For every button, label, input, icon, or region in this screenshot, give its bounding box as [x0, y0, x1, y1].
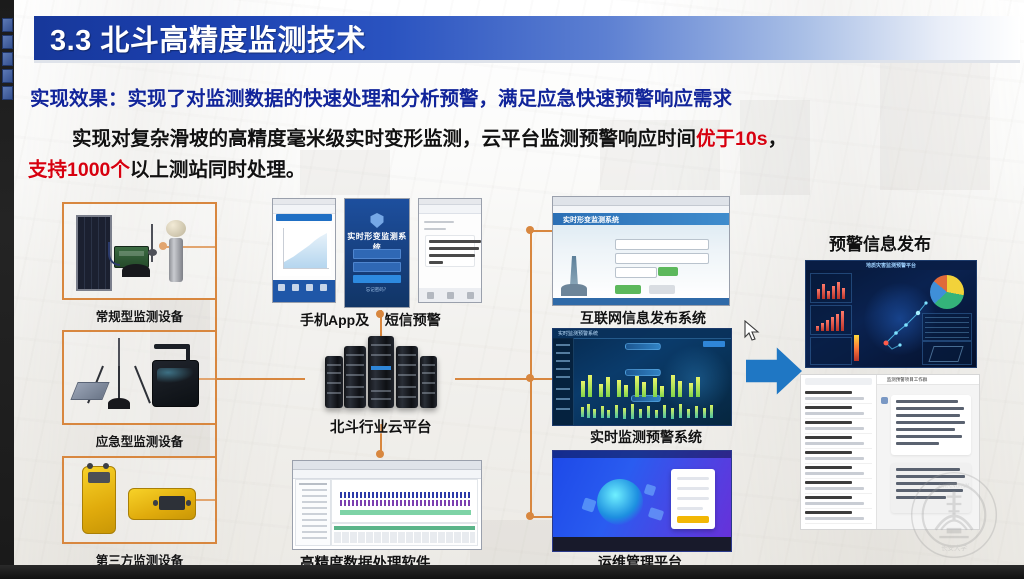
ops-chip-icon [644, 484, 657, 497]
sms-text-line [429, 261, 443, 264]
server-rack-center [368, 336, 394, 408]
publish-caption: 预警信息发布 [829, 230, 931, 255]
ops-footer [553, 537, 731, 551]
login-username-field[interactable] [615, 239, 709, 250]
chart-axis-y [283, 228, 284, 269]
sms-meta-line2 [424, 228, 446, 230]
dashboard-sidebar[interactable] [553, 338, 574, 425]
sms-text-line [429, 247, 479, 250]
software-window[interactable] [292, 460, 482, 550]
warn-mini-chart [815, 311, 847, 331]
list-item[interactable] [805, 449, 872, 464]
login-reset-button[interactable] [649, 285, 675, 294]
software-plot-panel [331, 479, 478, 523]
ops-chip-icon [648, 507, 664, 521]
cloud-platform-servers[interactable] [325, 336, 437, 408]
receiver-screen [88, 472, 110, 483]
chat-thread-header: 监测预警项目工作群 [877, 375, 979, 385]
datalogger-box-icon [152, 360, 199, 407]
receiver-cap2 [103, 463, 109, 469]
dashboard-bar-chart-top [579, 375, 709, 397]
warn-panel-label [814, 275, 815, 280]
dashboard-bar-chart-bottom [579, 403, 717, 421]
browser-tabbar[interactable] [553, 197, 729, 206]
chat-conversation-list[interactable] [801, 375, 877, 529]
dashboard-title: 实时监测预警系统 [558, 330, 598, 337]
yellow-receiver-lying-icon [128, 488, 196, 520]
ops-card-row [677, 477, 709, 480]
page-title: 3.3 北斗高精度监测技术 [50, 17, 366, 59]
sms-text-line [429, 240, 481, 243]
phone-password-field[interactable] [353, 262, 401, 272]
login-captcha-field[interactable] [615, 267, 657, 278]
server-rack [420, 356, 437, 408]
sms-meta-line [424, 221, 454, 223]
warn-dashboard-header: 地质灾害监测预警平台 [806, 261, 976, 270]
antenna-mast-icon [151, 224, 153, 262]
connector-dot-sys1 [526, 226, 534, 234]
body-highlight-10s: 优于10s [696, 128, 768, 150]
list-item[interactable] [805, 404, 872, 419]
system-footer [553, 298, 729, 305]
phone-app-chart[interactable] [272, 198, 336, 303]
chart-area-curve [283, 230, 327, 268]
yellow-receiver-upright-icon [82, 466, 116, 534]
warn-table-panel [922, 313, 972, 341]
gnss-antenna-ball-icon [166, 220, 186, 237]
login-submit-button[interactable] [615, 285, 641, 294]
warn-dashboard-title: 地质灾害监测预警平台 [866, 262, 916, 269]
slide-header: 3.3 北斗高精度监测技术 [14, 8, 1024, 68]
slide-root: 3.3 北斗高精度监测技术 实现效果：实现了对监测数据的快速处理和分析预警，满足… [0, 0, 1024, 579]
phone-search-row[interactable] [276, 214, 332, 221]
server-rack [344, 346, 366, 408]
system-window-internet-publish[interactable]: 实时形变监测系统 [552, 196, 730, 306]
monitor-cylinder-icon [169, 238, 183, 282]
sms-text-line [429, 254, 475, 257]
receiver-button-right [186, 500, 191, 506]
system-caption-realtime-warning: 实时监测预警系统 [590, 427, 702, 447]
phone-login-screen[interactable]: 实时形变监测系统 忘记密码？ [344, 198, 410, 308]
bottom-band [0, 565, 1024, 579]
body-highlight-1000: 支持1000个 [28, 159, 130, 181]
ops-chip-icon [581, 497, 596, 512]
solar-panel-icon [76, 215, 112, 291]
connector-dot-sys2 [526, 374, 534, 382]
warn-legend-gradient [854, 335, 859, 361]
connector-cloud-to-right [455, 378, 530, 380]
body-line2-tail: 以上测站同时处理。 [130, 159, 306, 181]
software-table-panel[interactable] [331, 523, 478, 546]
phone-chart [277, 224, 331, 276]
title-underline [34, 60, 1020, 63]
connector-dot-sys3 [526, 512, 534, 520]
phone-sms-screen[interactable] [418, 198, 482, 303]
warn-panel-left-mid [810, 305, 852, 335]
lighthouse-rocks [561, 284, 587, 296]
caption-sms: 短信预警 [385, 312, 441, 328]
architecture-diagram: 常规型监测设备 应急型监测设备 [0, 188, 1024, 566]
list-item[interactable] [805, 434, 872, 449]
ops-card-row [677, 497, 709, 500]
chart-axis-x [283, 268, 329, 269]
window-menubar [293, 470, 481, 479]
system-window-ops-platform[interactable] [552, 450, 732, 552]
warn-pie-chart [930, 275, 964, 309]
shield-icon [371, 213, 384, 228]
phone-login-footer[interactable]: 忘记密码？ [345, 287, 409, 293]
lighthouse-tower [570, 256, 578, 286]
lighthouse-illustration-icon [561, 250, 587, 296]
connector-left-to-cloud [215, 378, 305, 380]
login-password-field[interactable] [615, 253, 709, 264]
system-caption-internet-publish: 互联网信息发布系统 [580, 308, 706, 328]
receiver-button-left [153, 500, 158, 506]
warn-panel-left-bottom [810, 337, 852, 365]
server-rack [396, 346, 418, 408]
list-item[interactable] [805, 389, 872, 404]
warning-publish-dashboard[interactable]: 地质灾害监测预警平台 [805, 260, 977, 368]
receiver-cap [87, 463, 93, 469]
datalogger-antenna-icon [154, 344, 190, 349]
datalogger-antenna-stem [186, 346, 190, 362]
antenna-head-icon [148, 249, 157, 256]
receiver-display [159, 496, 185, 510]
sms-message-bubble [425, 235, 475, 267]
mobile-caption-group: 手机App及 短信预警 [300, 310, 441, 330]
ops-topbar [553, 451, 731, 458]
dashboard-action-button[interactable] [703, 341, 725, 347]
list-item[interactable] [805, 509, 872, 524]
ops-login-card[interactable] [671, 469, 715, 529]
body-line1-tail: ， [768, 128, 788, 150]
phone-navbar[interactable] [273, 280, 335, 302]
device-card-emergency[interactable]: 应急型监测设备 [62, 330, 217, 425]
system-banner-title: 实时形变监测系统 [563, 215, 619, 225]
device-caption-conventional: 常规型监测设备 [96, 306, 184, 325]
phone-username-field[interactable] [353, 249, 401, 259]
avatar [881, 397, 888, 404]
dome-receiver-icon [122, 264, 150, 277]
warn-panel-left-top [810, 273, 852, 303]
cloud-platform-caption: 北斗行业云平台 [330, 416, 432, 437]
caption-app: 手机App及 [300, 312, 369, 328]
tripod-dome-icon [108, 398, 130, 409]
ops-illustration-icon [597, 479, 643, 525]
connector-vertical-right [530, 230, 532, 516]
phone-appbar [273, 205, 335, 214]
mobile-group: 实时形变监测系统 忘记密码？ [272, 198, 488, 308]
subtitle-effect: 实现效果：实现了对监测数据的快速处理和分析预警，满足应急快速预警响应需求 [30, 82, 1000, 111]
phone-login-button[interactable] [353, 275, 401, 283]
device-caption-emergency: 应急型监测设备 [96, 431, 184, 450]
login-captcha-image[interactable] [658, 267, 678, 276]
arrow-right-icon [746, 343, 802, 399]
phone-navbar[interactable] [419, 288, 481, 302]
system-banner: 实时形变监测系统 [553, 213, 729, 225]
ops-card-row [677, 507, 703, 510]
list-item[interactable] [805, 464, 872, 479]
chat-message-bubble [891, 395, 971, 455]
university-watermark-logo: CHANG'AN 长安大学 [908, 469, 1000, 561]
system-window-realtime-warning[interactable]: 实时监测预警系统 [552, 328, 732, 426]
list-item[interactable] [805, 479, 872, 494]
dashboard-topbar: 实时监测预警系统 [553, 329, 731, 339]
svg-text:长安大学: 长安大学 [941, 543, 967, 552]
warn-3d-panel [922, 341, 972, 365]
dashboard-section-pill [625, 343, 661, 350]
body-line1: 实现对复杂滑坡的高精度毫米级实时变形监测，云平台监测预警响应时间 [72, 128, 696, 150]
chat-thread-title: 监测预警项目工作群 [887, 377, 928, 383]
ops-card-submit-button[interactable] [677, 516, 709, 523]
ops-card-row [677, 487, 709, 490]
left-decoration-squares [2, 18, 14, 103]
device-card-conventional[interactable]: 常规型监测设备 [62, 202, 217, 300]
device-card-thirdparty[interactable]: 第三方监测设备 [62, 456, 217, 544]
svg-text:CHANG'AN: CHANG'AN [939, 483, 971, 489]
software-tree-panel[interactable] [295, 479, 331, 546]
warn-mini-chart [815, 281, 847, 299]
body-paragraph: 实现对复杂滑坡的高精度毫米级实时变形监测，云平台监测预警响应时间优于10s， 支… [28, 124, 1003, 186]
list-item[interactable] [805, 494, 872, 509]
phone-appbar [419, 205, 481, 214]
list-item[interactable] [805, 419, 872, 434]
window-titlebar [293, 461, 481, 470]
server-rack [325, 356, 343, 408]
connector-dot-software [376, 450, 384, 458]
